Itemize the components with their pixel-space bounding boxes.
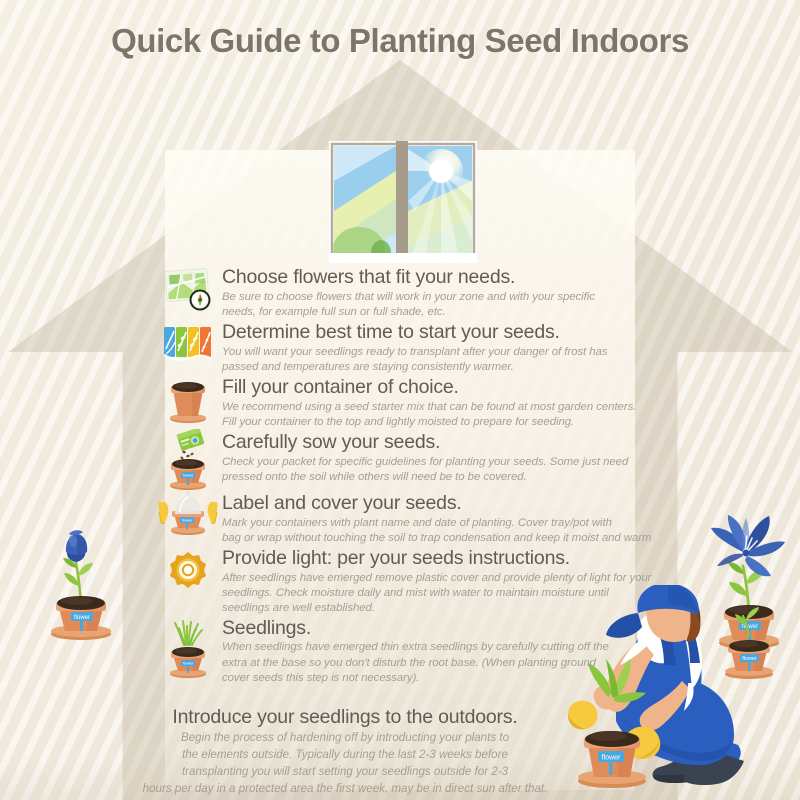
step-body-line: cover seeds this step is not necessary).: [222, 671, 632, 686]
step-text: Fill your container of choice. We recomm…: [222, 376, 636, 430]
step-body: After seedlings have emerged remove plas…: [222, 571, 651, 616]
step-title: Provide light: per your seeds instructio…: [222, 548, 651, 570]
left-glove: [158, 502, 168, 524]
step-body-line: Fill your container to the top and light…: [222, 415, 636, 430]
step-text: Carefully sow your seeds. Check your pac…: [222, 431, 632, 485]
pot-label-text: flower: [183, 472, 194, 477]
step-body: Be sure to choose flowers that will work…: [222, 290, 632, 320]
step-item: flower: [162, 492, 632, 546]
step-item: Determine best time to start your seeds.…: [162, 321, 632, 375]
four-seasons-calendar-icon: [162, 323, 218, 363]
step-body-line: You will want your seedlings ready to tr…: [222, 345, 632, 360]
step-item: Choose flowers that fit your needs. Be s…: [162, 266, 632, 320]
pot-label-text: flower: [74, 615, 90, 621]
step-body: Check your packet for specific guideline…: [222, 455, 632, 485]
gloves-covered-pot-icon: flower: [162, 490, 218, 536]
step-body: You will want your seedlings ready to tr…: [222, 345, 632, 375]
step-title: Choose flowers that fit your needs.: [222, 267, 632, 289]
potted-blue-bell-flower-icon: flower: [33, 512, 129, 644]
footer-title: Introduce your seedlings to the outdoors…: [0, 706, 690, 729]
step-title: Seedlings.: [222, 618, 632, 640]
page-title: Quick Guide to Planting Seed Indoors: [0, 22, 800, 60]
sun-light-icon: [162, 549, 218, 591]
step-item: Fill your container of choice. We recomm…: [162, 376, 632, 430]
step-item: Provide light: per your seeds instructio…: [162, 547, 632, 616]
map-compass-icon: [162, 268, 218, 314]
pot-label-text: flower: [183, 660, 194, 665]
step-body-line: needs, for example full sun or full shad…: [222, 305, 632, 320]
steps-list: Choose flowers that fit your needs. Be s…: [162, 266, 632, 687]
step-item: flower Carefully sow your seeds. Check y…: [162, 431, 632, 491]
footer-body-line: transplanting you will start setting you…: [0, 764, 690, 781]
infographic-canvas: Quick Guide to Planting Seed Indoors: [0, 0, 800, 800]
step-title: Carefully sow your seeds.: [222, 432, 632, 454]
step-body: We recommend using a seed starter mix th…: [222, 400, 636, 430]
step-body: Mark your containers with plant name and…: [222, 516, 651, 546]
step-body-line: seedlings are well established.: [222, 601, 651, 616]
step-body-line: pressed onto the soil while others will …: [222, 470, 632, 485]
step-title: Determine best time to start your seeds.: [222, 322, 632, 344]
pot-with-soil-icon: [162, 376, 218, 424]
step-body-line: seedlings. Check moisture daily and mist…: [222, 586, 651, 601]
footer-body: Begin the process of hardening off by in…: [0, 730, 690, 797]
right-glove: [208, 502, 218, 524]
step-body-line: After seedlings have emerged remove plas…: [222, 571, 651, 586]
step-text: Label and cover your seeds. Mark your co…: [222, 492, 651, 546]
step-title: Label and cover your seeds.: [222, 493, 651, 515]
step-text: Seedlings. When seedlings have emerged t…: [222, 617, 632, 686]
pot-with-seedlings-icon: flower: [162, 617, 218, 679]
step-body-line: passed and temperatures are staying cons…: [222, 360, 632, 375]
pot-label-text: flower: [182, 517, 193, 522]
step-body-line: We recommend using a seed starter mix th…: [222, 400, 636, 415]
footer-body-line: the elements outside. Typically during t…: [0, 747, 690, 764]
step-body: When seedlings have emerged thin extra s…: [222, 640, 632, 685]
window-with-sun-icon: [329, 141, 477, 263]
step-item: flower Seedlings. When seedlings have em…: [162, 617, 632, 686]
plant-left-illustration: flower: [33, 512, 129, 649]
window-illustration: [329, 141, 477, 263]
step-body-line: Be sure to choose flowers that will work…: [222, 290, 632, 305]
footer-body-line: hours per day in a protected area the fi…: [0, 781, 690, 798]
step-text: Choose flowers that fit your needs. Be s…: [222, 266, 632, 320]
step-text: Determine best time to start your seeds.…: [222, 321, 632, 375]
step-title: Fill your container of choice.: [222, 377, 636, 399]
step-text: Provide light: per your seeds instructio…: [222, 547, 651, 616]
step-body-line: extra at the base so you don't disturb t…: [222, 656, 632, 671]
step-body-line: Mark your containers with plant name and…: [222, 516, 651, 531]
seed-packet-sowing-icon: flower: [162, 429, 218, 491]
footer-section: Introduce your seedlings to the outdoors…: [0, 706, 690, 798]
step-body-line: When seedlings have emerged thin extra s…: [222, 640, 632, 655]
footer-body-line: Begin the process of hardening off by in…: [0, 730, 690, 747]
step-body-line: Check your packet for specific guideline…: [222, 455, 632, 470]
step-body-line: bag or wrap without touching the soil to…: [222, 531, 651, 546]
